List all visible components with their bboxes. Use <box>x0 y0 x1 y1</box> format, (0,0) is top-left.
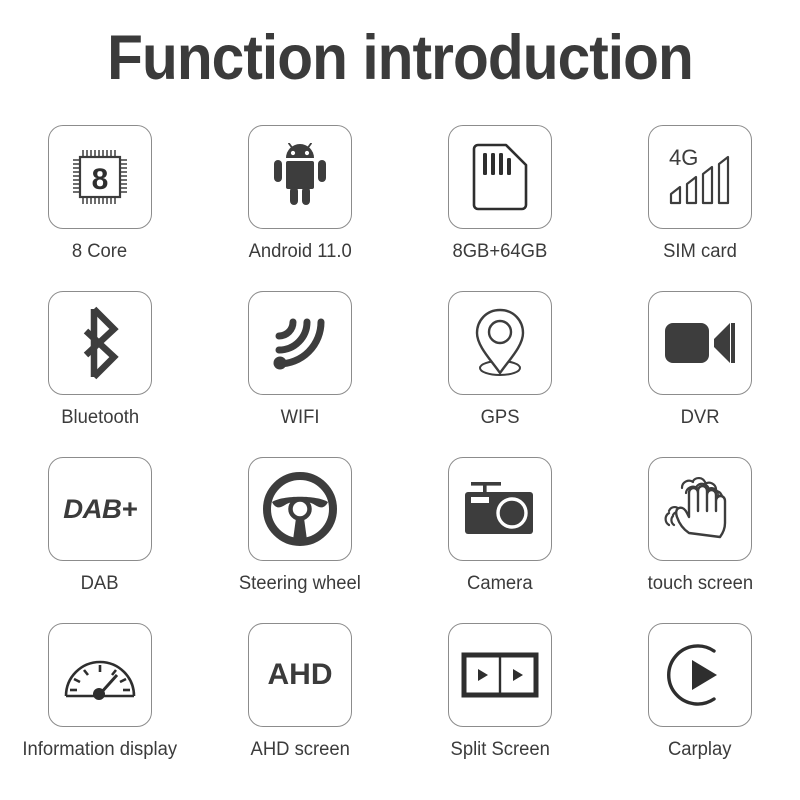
feature-label: Steering wheel <box>239 573 361 595</box>
network-generation-label: 4G <box>669 145 698 170</box>
feature-icon-card[interactable] <box>448 623 552 727</box>
feature-icon-card[interactable] <box>248 125 352 229</box>
feature-icon-card[interactable] <box>648 623 752 727</box>
feature-label: DVR <box>681 407 720 429</box>
feature-label: 8 Core <box>72 241 127 263</box>
feature-icon-card[interactable]: 8 <box>48 125 152 229</box>
feature-icon-card[interactable] <box>248 291 352 395</box>
feature-icon-card[interactable] <box>648 291 752 395</box>
photo-camera-icon <box>463 480 537 538</box>
feature-item-camera[interactable]: Camera <box>400 457 600 623</box>
feature-icon-card[interactable] <box>48 623 152 727</box>
feature-label: AHD screen <box>250 739 349 761</box>
touch-hand-icon <box>662 471 738 547</box>
feature-icon-card[interactable] <box>48 291 152 395</box>
feature-item-storage[interactable]: 8GB+64GB <box>400 125 600 291</box>
feature-item-dab[interactable]: DAB+ DAB <box>0 457 200 623</box>
feature-item-steering-wheel[interactable]: Steering wheel <box>200 457 400 623</box>
feature-item-carplay[interactable]: Carplay <box>600 623 800 789</box>
speedometer-icon <box>62 650 138 700</box>
feature-item-bluetooth[interactable]: Bluetooth <box>0 291 200 457</box>
feature-poster: Function introduction <box>0 0 800 800</box>
feature-item-8-core[interactable]: 8 8 Core <box>0 125 200 291</box>
feature-label: Camera <box>467 573 533 595</box>
feature-item-information-display[interactable]: Information display <box>0 623 200 789</box>
carplay-icon <box>667 642 733 708</box>
page-title: Function introduction <box>28 22 772 94</box>
feature-item-ahd-screen[interactable]: AHD AHD screen <box>200 623 400 789</box>
wifi-icon <box>269 312 331 374</box>
feature-label: Information display <box>23 739 178 761</box>
split-screen-icon <box>461 652 539 698</box>
feature-item-touch-screen[interactable]: touch screen <box>600 457 800 623</box>
sim-card-icon <box>468 141 532 213</box>
feature-icon-card[interactable] <box>248 457 352 561</box>
feature-icon-card[interactable] <box>648 457 752 561</box>
feature-label: SIM card <box>663 241 737 263</box>
signal-bars-4g-icon: 4G <box>663 141 737 213</box>
feature-label: touch screen <box>647 573 753 595</box>
feature-label: DAB <box>81 573 119 595</box>
feature-grid: 8 8 Core <box>0 125 800 789</box>
feature-label: Carplay <box>668 739 732 761</box>
feature-label: Bluetooth <box>61 407 139 429</box>
feature-label: WIFI <box>281 407 320 429</box>
ahd-text-icon: AHD <box>268 658 333 692</box>
steering-wheel-icon <box>263 472 337 546</box>
android-robot-icon <box>268 143 332 211</box>
feature-item-split-screen[interactable]: Split Screen <box>400 623 600 789</box>
feature-label: Android 11.0 <box>248 241 351 263</box>
feature-item-gps[interactable]: GPS <box>400 291 600 457</box>
feature-item-wifi[interactable]: WIFI <box>200 291 400 457</box>
cpu-core-count: 8 <box>92 163 109 196</box>
feature-icon-card[interactable]: AHD <box>248 623 352 727</box>
gps-pin-icon <box>469 306 531 380</box>
feature-item-dvr[interactable]: DVR <box>600 291 800 457</box>
feature-icon-card[interactable] <box>448 291 552 395</box>
cpu-chip-icon: 8 <box>64 141 136 213</box>
dab-plus-text-icon: DAB+ <box>63 494 137 525</box>
feature-icon-card[interactable] <box>448 125 552 229</box>
feature-label: GPS <box>481 407 520 429</box>
feature-item-android[interactable]: Android 11.0 <box>200 125 400 291</box>
video-camera-icon <box>664 319 736 367</box>
feature-label: 8GB+64GB <box>453 241 548 263</box>
feature-icon-card[interactable]: 4G <box>648 125 752 229</box>
feature-icon-card[interactable] <box>448 457 552 561</box>
bluetooth-icon <box>72 305 128 381</box>
feature-label: Split Screen <box>450 739 549 761</box>
feature-icon-card[interactable]: DAB+ <box>48 457 152 561</box>
feature-item-sim-card[interactable]: 4G SIM card <box>600 125 800 291</box>
